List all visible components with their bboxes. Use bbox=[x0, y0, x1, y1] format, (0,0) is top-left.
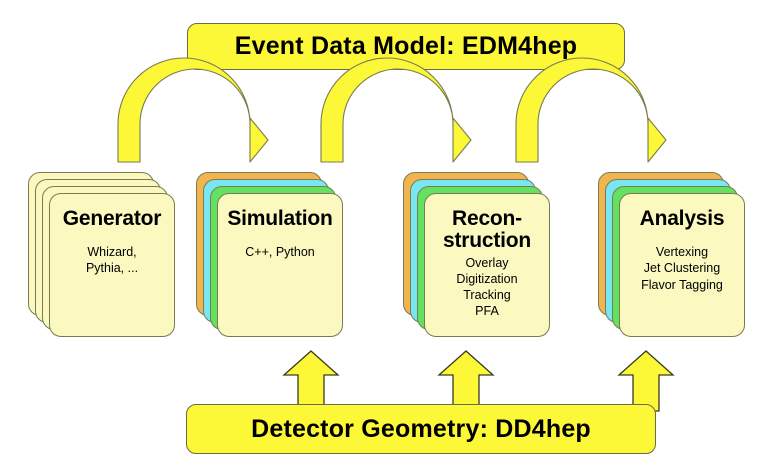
event-data-model-label: Event Data Model: EDM4hep bbox=[235, 32, 578, 61]
card-title-reconstruction: Recon- struction bbox=[443, 208, 531, 252]
arc-arrow-icon bbox=[313, 66, 473, 171]
stage-card-simulation[interactable]: Simulation C++, Python bbox=[196, 172, 356, 342]
stage-card-generator[interactable]: Generator Whizard, Pythia, ... bbox=[28, 172, 188, 342]
card-title-analysis: Analysis bbox=[640, 208, 725, 230]
card-front-generator[interactable]: Generator Whizard, Pythia, ... bbox=[49, 193, 175, 337]
card-title-generator: Generator bbox=[63, 208, 162, 230]
arc-arrow-icon bbox=[508, 66, 668, 171]
card-front-analysis[interactable]: Analysis Vertexing Jet Clustering Flavor… bbox=[619, 193, 745, 337]
card-details-simulation: C++, Python bbox=[245, 244, 315, 261]
up-arrow-analysis bbox=[618, 350, 674, 412]
up-arrow-icon bbox=[283, 350, 339, 412]
card-front-simulation[interactable]: Simulation C++, Python bbox=[217, 193, 343, 337]
detector-geometry-label: Detector Geometry: DD4hep bbox=[251, 415, 591, 444]
up-arrow-icon bbox=[438, 350, 494, 412]
card-title-simulation: Simulation bbox=[227, 208, 332, 230]
arc-reconstruction-to-analysis-arrow bbox=[508, 66, 668, 171]
arc-arrow-icon bbox=[110, 66, 270, 171]
up-arrow-icon bbox=[618, 350, 674, 412]
card-details-generator: Whizard, Pythia, ... bbox=[86, 244, 138, 277]
card-details-analysis: Vertexing Jet Clustering Flavor Tagging bbox=[641, 244, 723, 294]
stage-card-reconstruction[interactable]: Recon- struction Overlay Digitization Tr… bbox=[403, 172, 563, 342]
card-front-reconstruction[interactable]: Recon- struction Overlay Digitization Tr… bbox=[424, 193, 550, 337]
arc-simulation-to-reconstruction-arrow bbox=[313, 66, 473, 171]
stage-card-analysis[interactable]: Analysis Vertexing Jet Clustering Flavor… bbox=[598, 172, 758, 342]
detector-geometry-banner[interactable]: Detector Geometry: DD4hep bbox=[186, 404, 656, 454]
up-arrow-simulation bbox=[283, 350, 339, 412]
diagram-canvas: Event Data Model: EDM4hep Generator Whiz… bbox=[0, 0, 764, 472]
card-details-reconstruction: Overlay Digitization Tracking PFA bbox=[456, 255, 517, 319]
up-arrow-reconstruction bbox=[438, 350, 494, 412]
arc-generator-to-simulation-arrow bbox=[110, 66, 270, 171]
